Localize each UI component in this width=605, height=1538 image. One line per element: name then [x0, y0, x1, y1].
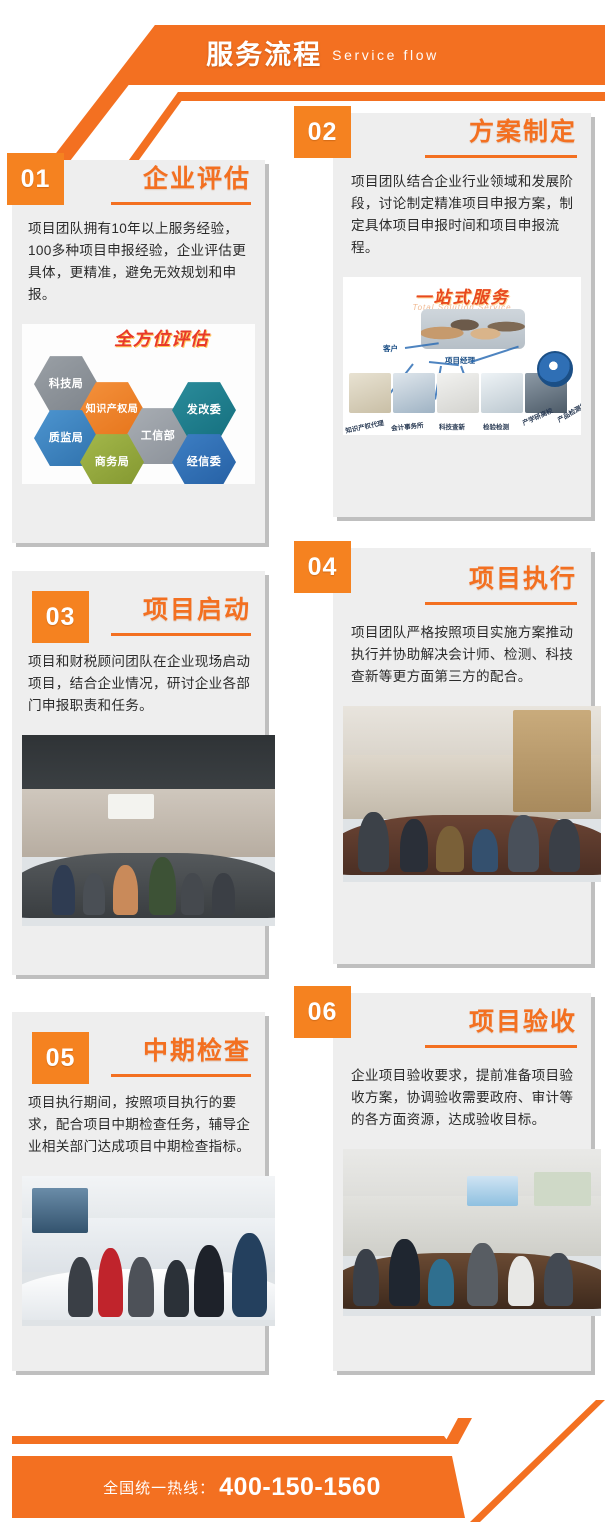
step-title-01: 企业评估 — [143, 166, 251, 192]
step-number-badge-05: 05 — [32, 1032, 89, 1084]
title-underline-05 — [111, 1074, 251, 1077]
step-photo-03 — [22, 735, 275, 926]
footer-accent-rule — [12, 1436, 572, 1444]
one-stop-service-label-1: 知识产权代理 — [344, 417, 384, 435]
title-underline-03 — [111, 633, 251, 636]
title-underline-02 — [425, 155, 577, 158]
step-card-06[interactable]: 06 项目验收 企业项目验收要求，提前准备项目验收方案，协调验收需要政府、审计等… — [333, 993, 591, 1371]
step-card-05[interactable]: 05 中期检查 项目执行期间，按照项目执行的要求，配合项目中期检查任务，辅导企业… — [12, 1012, 265, 1371]
header-accent-rule — [0, 92, 605, 101]
step-title-02: 方案制定 — [469, 119, 577, 145]
step-title-06: 项目验收 — [469, 1009, 577, 1035]
step-media-02: 一站式服务 Total Solution Service 客户 项目经理 知识产… — [343, 277, 581, 435]
hotline-group: 全国统一热线： 400-150-1560 — [12, 1456, 472, 1518]
service-flow-infographic: 服务流程 Service flow 01 企业评估 项目团队拥有10年以上服务经… — [0, 0, 605, 1538]
step-body-05: 项目执行期间，按照项目执行的要求，配合项目中期检查任务，辅导企业相关部门达成项目… — [12, 1090, 265, 1170]
step-title-05: 中期检查 — [143, 1038, 251, 1064]
hotline-label: 全国统一热线： — [103, 1477, 215, 1498]
step-title-04: 项目执行 — [469, 566, 577, 592]
step-photo-06 — [343, 1149, 601, 1316]
step-card-03[interactable]: 03 项目启动 项目和财税顾问团队在企业现场启动项目，结合企业情况，研讨企业各部… — [12, 571, 265, 975]
title-underline-06 — [425, 1045, 577, 1048]
one-stop-service-label-4: 检验检测 — [483, 421, 509, 431]
hexagon-diagram-caption: 全方位评估 — [114, 330, 209, 348]
one-stop-thumb-4 — [481, 373, 523, 413]
one-stop-service-label-3: 科技查新 — [439, 421, 465, 431]
step-card-04[interactable]: 04 项目执行 项目团队严格按照项目实施方案推动执行并协助解决会计师、检测、科技… — [333, 548, 591, 964]
one-stop-thumb-2 — [393, 373, 435, 413]
page-title: 服务流程 — [206, 42, 322, 69]
hotline-number[interactable]: 400-150-1560 — [219, 1475, 381, 1500]
step-photo-04 — [343, 706, 601, 882]
step-card-02[interactable]: 02 方案制定 项目团队结合企业行业领域和发展阶段，讨论制定精准项目申报方案，制… — [333, 113, 591, 517]
iso-seal-icon — [537, 351, 573, 387]
one-stop-thumb-3 — [437, 373, 479, 413]
step-body-01: 项目团队拥有10年以上服务经验，100多种项目申报经验，企业评估更具体，更精准，… — [12, 216, 265, 318]
step-card-01[interactable]: 01 企业评估 项目团队拥有10年以上服务经验，100多种项目申报经验，企业评估… — [12, 160, 265, 543]
step-title-03: 项目启动 — [143, 597, 251, 623]
page-subtitle: Service flow — [332, 48, 439, 62]
title-underline-01 — [111, 202, 251, 205]
step-photo-05 — [22, 1176, 275, 1326]
header-title-group: 服务流程 Service flow — [0, 27, 605, 83]
step-media-01: 全方位评估 科技局 知识产权局 质监局 工信部 商务局 发改委 经信委 — [22, 324, 255, 484]
step-number-badge-04: 04 — [294, 541, 351, 593]
step-body-02: 项目团队结合企业行业领域和发展阶段，讨论制定精准项目申报方案，制定具体项目申报时… — [333, 169, 591, 271]
step-number-badge-03: 03 — [32, 591, 89, 643]
step-body-06: 企业项目验收要求，提前准备项目验收方案，协调验收需要政府、审计等的各方面资源，达… — [333, 1063, 591, 1143]
one-stop-thumb-1 — [349, 373, 391, 413]
hexagon-diagram: 全方位评估 科技局 知识产权局 质监局 工信部 商务局 发改委 经信委 — [22, 324, 255, 484]
step-header-06: 项目验收 — [333, 993, 591, 1063]
one-stop-service-label-2: 会计事务所 — [391, 419, 424, 432]
step-number-badge-02: 02 — [294, 106, 351, 158]
step-number-badge-01: 01 — [7, 153, 64, 205]
step-number-badge-06: 06 — [294, 986, 351, 1038]
step-body-04: 项目团队严格按照项目实施方案推动执行并协助解决会计师、检测、科技查新等更方面第三… — [333, 620, 591, 700]
step-body-03: 项目和财税顾问团队在企业现场启动项目，结合企业情况，研讨企业各部门申报职责和任务… — [12, 649, 265, 729]
one-stop-service-diagram: 一站式服务 Total Solution Service 客户 项目经理 知识产… — [343, 277, 581, 435]
page-footer: 全国统一热线： 400-150-1560 — [0, 1400, 605, 1538]
step-header-04: 项目执行 — [333, 548, 591, 620]
step-header-02: 方案制定 — [333, 113, 591, 169]
title-underline-04 — [425, 602, 577, 605]
one-stop-label-client: 客户 — [383, 343, 398, 354]
